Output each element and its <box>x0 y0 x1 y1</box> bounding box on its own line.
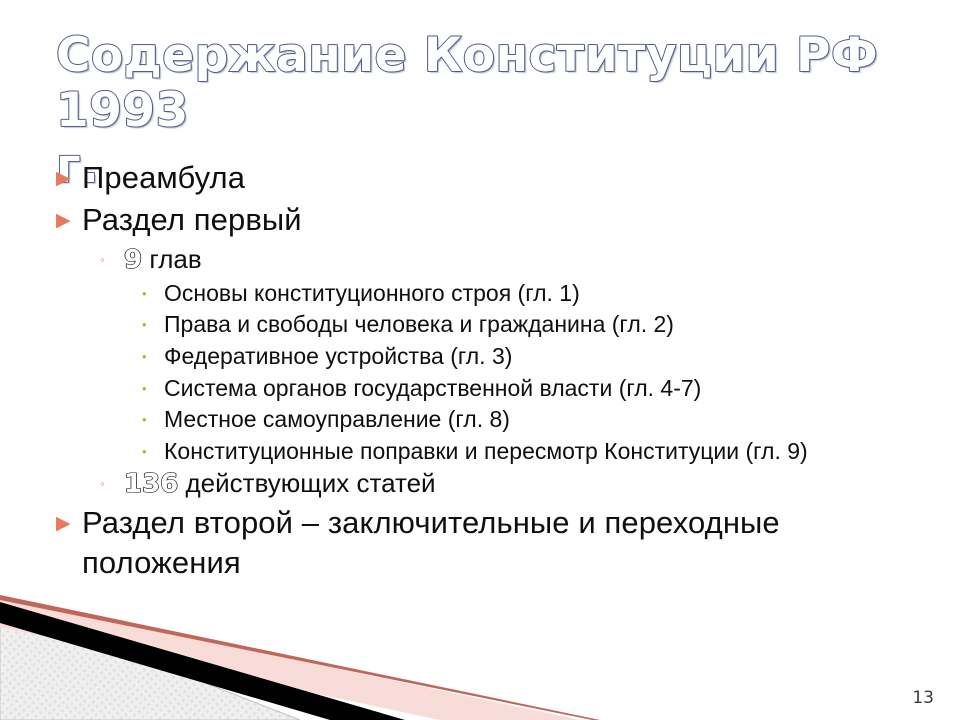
list-item-label: Основы конституционного строя (гл. 1) <box>164 278 928 309</box>
chapter-count-label: глав <box>142 244 202 274</box>
list-item-label: 9 глав <box>124 243 928 277</box>
corner-decoration <box>0 575 660 720</box>
slide: Содержание Конституции РФ 1993 г. ▶ Преа… <box>0 0 960 720</box>
list-item-label: Раздел первый <box>82 200 928 240</box>
list-item: ▶ Раздел второй – заключительные и перех… <box>56 503 928 584</box>
dot-bullet-icon: • <box>142 373 164 395</box>
list-item: ◦ 9 глав <box>100 243 928 277</box>
dot-bullet-icon: • <box>142 341 164 363</box>
circle-bullet-icon: ◦ <box>100 243 124 266</box>
decor-hatched-triangle <box>0 603 300 720</box>
list-item: • Основы конституционного строя (гл. 1) <box>142 278 928 309</box>
decor-hatched-triangle-edge <box>0 603 300 720</box>
dot-bullet-icon: • <box>142 309 164 331</box>
list-item: ▶ Преамбула <box>56 158 928 198</box>
list-item-label: Права и свободы человека и гражданина (г… <box>164 309 928 340</box>
list-item-label: Местное самоуправление (гл. 8) <box>164 404 928 435</box>
chapter-count-value: 9 <box>124 245 142 275</box>
triangle-bullet-icon: ▶ <box>56 158 82 188</box>
list-item-label: 136 действующих статей <box>124 467 928 501</box>
triangle-bullet-icon: ▶ <box>56 503 82 533</box>
dot-bullet-icon: • <box>142 436 164 458</box>
decor-black-wedge <box>0 602 405 720</box>
list-item-label: Раздел второй – заключительные и переход… <box>82 503 928 584</box>
list-item: ◦ 136 действующих статей <box>100 467 928 501</box>
list-item: • Конституционные поправки и пересмотр К… <box>142 436 928 467</box>
circle-bullet-icon: ◦ <box>100 467 124 490</box>
list-item: • Права и свободы человека и гражданина … <box>142 309 928 340</box>
article-count-label: действующих статей <box>178 468 435 498</box>
dot-bullet-icon: • <box>142 278 164 300</box>
title-line-1: Содержание Конституции РФ 1993 <box>56 28 878 138</box>
list-item: • Местное самоуправление (гл. 8) <box>142 404 928 435</box>
list-item-label: Система органов государственной власти (… <box>164 373 928 404</box>
decor-pink-band <box>0 597 580 720</box>
list-item: • Федеративное устройства (гл. 3) <box>142 341 928 372</box>
list-item-label: Конституционные поправки и пересмотр Кон… <box>164 436 928 467</box>
article-count-value: 136 <box>124 469 178 499</box>
list-item-label: Преамбула <box>82 158 928 198</box>
decor-salmon-line <box>0 595 600 720</box>
list-item: • Система органов государственной власти… <box>142 373 928 404</box>
list-item: ▶ Раздел первый <box>56 200 928 240</box>
page-number: 13 <box>912 688 934 708</box>
triangle-bullet-icon: ▶ <box>56 200 82 230</box>
dot-bullet-icon: • <box>142 404 164 426</box>
content-list: ▶ Преамбула ▶ Раздел первый ◦ 9 глав • О… <box>56 158 928 585</box>
list-item-label: Федеративное устройства (гл. 3) <box>164 341 928 372</box>
